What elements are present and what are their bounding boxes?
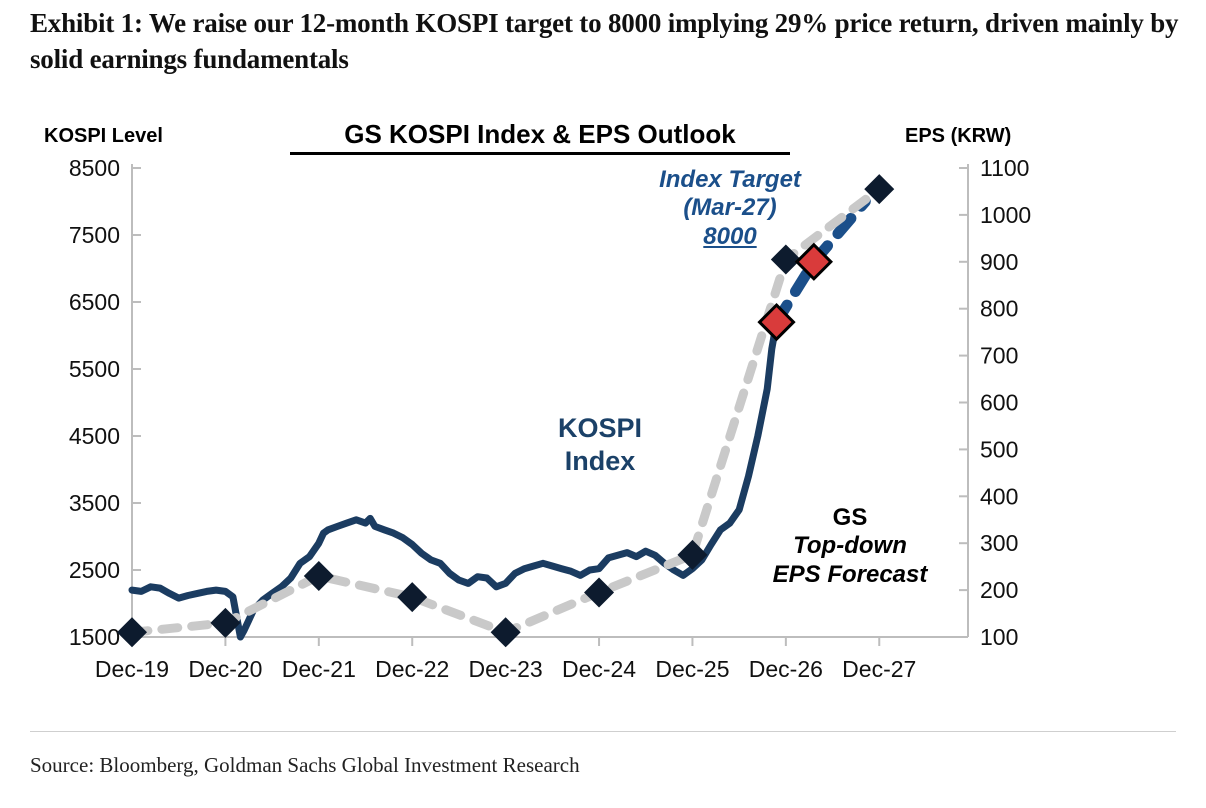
right-axis-tick-label: 1100: [980, 155, 1029, 181]
eps-marker: [677, 540, 707, 570]
annotation-index-target-value: 8000: [600, 223, 860, 251]
right-axis-tick-label: 700: [980, 343, 1018, 369]
series-line: [132, 322, 777, 637]
footer-divider: [30, 731, 1176, 732]
eps-marker: [584, 577, 614, 607]
x-axis-tick-label: Dec-24: [562, 656, 636, 682]
x-axis-tick-label: Dec-23: [469, 656, 543, 682]
eps-marker: [117, 617, 147, 647]
x-axis-tick-label: Dec-27: [842, 656, 916, 682]
x-axis-tick-label: Dec-19: [95, 656, 169, 682]
right-axis-tick-label: 800: [980, 296, 1018, 322]
left-axis-tick-label: 1500: [69, 624, 120, 650]
eps-marker: [397, 582, 427, 612]
eps-marker: [304, 561, 334, 591]
eps-marker: [491, 617, 521, 647]
x-axis-tick-label: Dec-21: [282, 656, 356, 682]
left-axis-tick-label: 7500: [69, 222, 120, 248]
annotation-eps-line3: EPS Forecast: [730, 561, 970, 589]
right-axis-tick-label: 100: [980, 624, 1018, 650]
annotation-kospi-line2: Index: [500, 445, 700, 478]
annotation-kospi-index: KOSPI Index: [500, 412, 700, 478]
right-axis-tick-label: 900: [980, 249, 1018, 275]
right-axis-tick-label: 300: [980, 530, 1018, 556]
x-axis-tick-label: Dec-20: [188, 656, 262, 682]
right-axis-tick-label: 600: [980, 390, 1018, 416]
annotation-index-target: Index Target (Mar-27) 8000: [600, 166, 860, 251]
x-axis-tick-label: Dec-25: [655, 656, 729, 682]
annotation-eps-line1: GS: [730, 504, 970, 532]
right-axis-tick-label: 200: [980, 577, 1018, 603]
annotation-eps-forecast: GS Top-down EPS Forecast: [730, 504, 970, 589]
left-axis-tick-label: 5500: [69, 356, 120, 382]
left-axis-tick-label: 8500: [69, 155, 120, 181]
annotation-eps-line2: Top-down: [730, 532, 970, 560]
left-axis-tick-label: 6500: [69, 289, 120, 315]
annotation-index-target-line2: (Mar-27): [600, 194, 860, 222]
right-axis-tick-label: 400: [980, 483, 1018, 509]
left-axis-tick-label: 4500: [69, 423, 120, 449]
left-axis-tick-label: 3500: [69, 490, 120, 516]
source-note: Source: Bloomberg, Goldman Sachs Global …: [30, 753, 580, 778]
annotation-index-target-line1: Index Target: [600, 166, 860, 194]
left-axis-tick-label: 2500: [69, 557, 120, 583]
right-axis-tick-label: 500: [980, 436, 1018, 462]
annotation-kospi-line1: KOSPI: [500, 412, 700, 445]
x-axis-tick-label: Dec-22: [375, 656, 449, 682]
exhibit-title: Exhibit 1: We raise our 12-month KOSPI t…: [30, 6, 1180, 77]
chart-container: KOSPI Level EPS (KRW) GS KOSPI Index & E…: [0, 104, 1206, 704]
right-axis-tick-label: 1000: [980, 202, 1031, 228]
x-axis-tick-label: Dec-26: [749, 656, 823, 682]
